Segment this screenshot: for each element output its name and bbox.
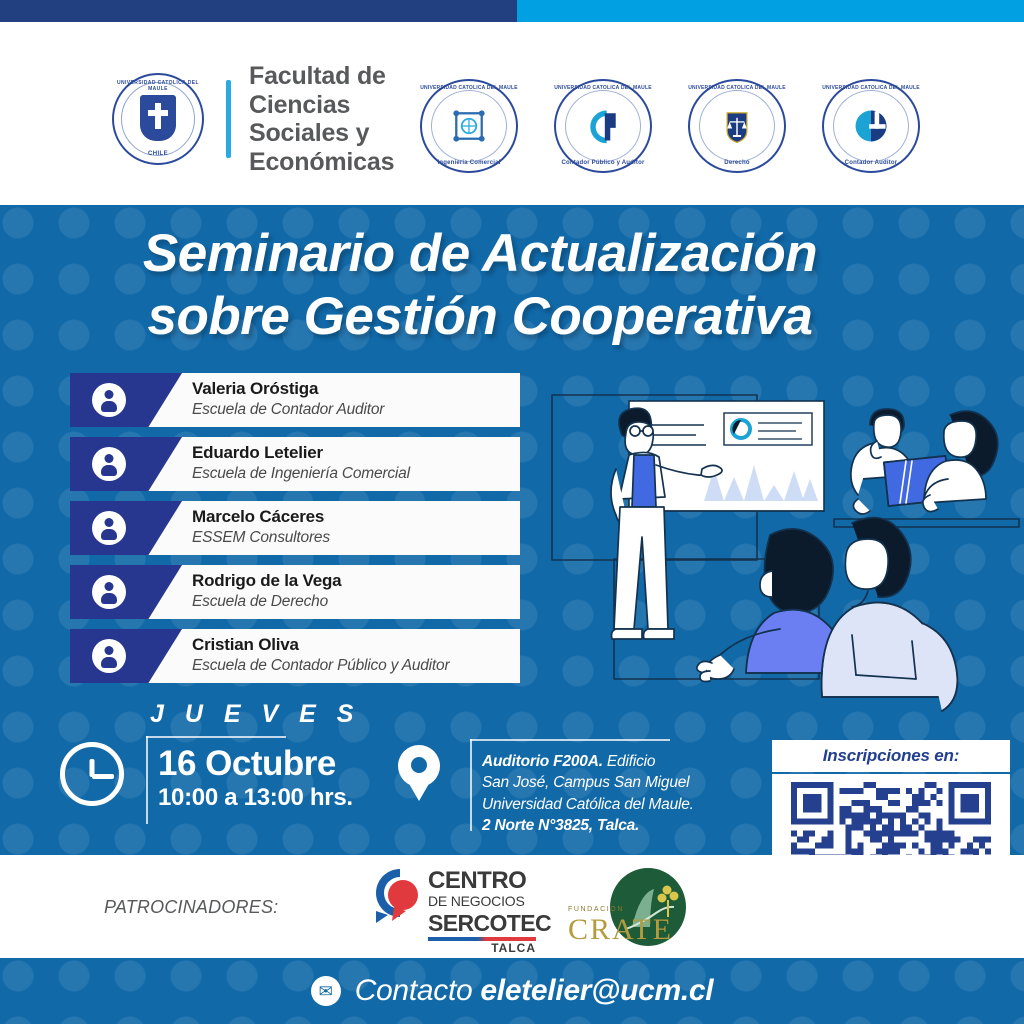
speaker-text: Eduardo LetelierEscuela de Ingeniería Co…	[192, 442, 520, 485]
shield-cross-icon	[140, 95, 176, 141]
pin-head	[398, 745, 440, 787]
speakers-list: Valeria OróstigaEscuela de Contador Audi…	[70, 373, 520, 693]
faculty-title-line: Facultad de	[249, 62, 394, 91]
emblem-top-text: UNIVERSIDAD CATOLICA DEL MAULE	[688, 85, 786, 91]
emblem-derecho: UNIVERSIDAD CATOLICA DEL MAULE Derecho	[688, 79, 786, 173]
location-line-4: 2 Norte N°3825, Talca.	[482, 815, 712, 836]
location-line1-rest: Edificio	[603, 753, 655, 770]
seal-top-text: UNIVERSIDAD CATOLICA DEL MAULE	[112, 80, 204, 92]
top-bar-navy-segment	[0, 0, 517, 22]
top-bar-cyan-segment	[517, 0, 1024, 22]
business-presentation-illustration	[534, 373, 1024, 713]
faculty-lockup: UNIVERSIDAD CATOLICA DEL MAULE CHILE Fac…	[112, 62, 394, 176]
sercotec-line-4: TALCA	[428, 941, 536, 955]
contact-prefix: Contacto	[355, 974, 481, 1007]
emblem-top-text: UNIVERSIDAD CATOLICA DEL MAULE	[822, 85, 920, 91]
faculty-title-line: Económicas	[249, 148, 394, 177]
school-emblems-row: UNIVERSIDAD CATOLICA DEL MAULE Ingenierí…	[420, 79, 920, 173]
speaker-name: Marcelo Cáceres	[192, 506, 520, 528]
faculty-title: Facultad deCienciasSociales yEconómicas	[249, 62, 394, 176]
sercotec-speech-bubbles-icon	[370, 865, 426, 925]
person-icon	[92, 639, 126, 673]
crate-line-1: FUNDACION	[568, 906, 624, 913]
event-date: 16 Octubre	[158, 744, 336, 784]
registration-label: Inscripciones en:	[772, 740, 1010, 772]
poster-root: UNIVERSIDAD CATOLICA DEL MAULE CHILE Fac…	[0, 0, 1024, 1024]
speaker-text: Marcelo CáceresESSEM Consultores	[192, 506, 520, 549]
contact-email[interactable]: eletelier@ucm.cl	[480, 974, 713, 1007]
speaker-role: Escuela de Ingeniería Comercial	[192, 464, 520, 484]
seal-bottom-text: CHILE	[112, 151, 204, 157]
clock-minute-hand	[92, 774, 114, 779]
header-divider-bar	[226, 80, 231, 158]
sercotec-line-1: CENTRO	[428, 869, 551, 893]
crate-line-2: CRATE	[568, 913, 673, 946]
person-icon	[92, 383, 126, 417]
cp-monogram-icon	[581, 104, 625, 148]
envelope-icon: ✉	[311, 976, 341, 1006]
faculty-title-line: Sociales y	[249, 119, 394, 148]
person-icon	[92, 447, 126, 481]
ucm-main-seal-icon: UNIVERSIDAD CATOLICA DEL MAULE CHILE	[112, 73, 204, 165]
header-logos-band: UNIVERSIDAD CATOLICA DEL MAULE CHILE Fac…	[0, 22, 1024, 205]
emblem-bottom-text: Derecho	[688, 160, 786, 166]
speaker-name: Valeria Oróstiga	[192, 378, 520, 400]
speaker-name: Rodrigo de la Vega	[192, 570, 520, 592]
ca-monogram-icon	[849, 104, 893, 148]
contact-lockup[interactable]: ✉ Contacto eletelier@ucm.cl	[311, 974, 714, 1008]
datetime-top-rule	[146, 736, 286, 738]
top-color-bar	[0, 0, 1024, 22]
location-left-rule	[470, 739, 472, 831]
sercotec-line-2: DE NEGOCIOS	[428, 893, 551, 911]
emblem-ingenieria-comercial: UNIVERSIDAD CATOLICA DEL MAULE Ingenierí…	[420, 79, 518, 173]
map-pin-icon	[398, 745, 440, 801]
location-top-rule	[470, 739, 670, 741]
speaker-row: Cristian OlivaEscuela de Contador Públic…	[70, 629, 520, 683]
sercotec-wordmark: CENTRO DE NEGOCIOS SERCOTEC TALCA	[428, 869, 551, 955]
sercotec-line-3: SERCOTEC	[428, 911, 551, 935]
emblem-top-text: UNIVERSIDAD CATOLICA DEL MAULE	[554, 85, 652, 91]
speaker-role: Escuela de Derecho	[192, 592, 520, 612]
emblem-top-text: UNIVERSIDAD CATOLICA DEL MAULE	[420, 85, 518, 91]
location-line-1: Auditorio F200A. Edificio	[482, 751, 712, 772]
person-icon	[92, 511, 126, 545]
location-address: Auditorio F200A. Edificio San José, Camp…	[482, 751, 712, 837]
person-icon	[92, 575, 126, 609]
speaker-text: Rodrigo de la VegaEscuela de Derecho	[192, 570, 520, 613]
emblem-bottom-text: Ingeniería Comercial	[420, 160, 518, 166]
speaker-text: Cristian OlivaEscuela de Contador Públic…	[192, 634, 520, 677]
crate-oval-logo-icon: FUNDACION CRATE	[566, 867, 692, 949]
speaker-name: Cristian Oliva	[192, 634, 520, 656]
scales-shield-icon	[715, 104, 759, 148]
page-title: Seminario de Actualización sobre Gestión…	[0, 223, 960, 348]
location-venue: Auditorio F200A.	[482, 753, 603, 770]
sponsors-label: PATROCINADORES:	[104, 897, 278, 918]
datetime-left-rule	[146, 736, 148, 824]
location-line-2: San José, Campus San Miguel	[482, 772, 712, 793]
emblem-bottom-text: Contador Auditor	[822, 160, 920, 166]
speaker-role: ESSEM Consultores	[192, 528, 520, 548]
sponsor-logo-crate: FUNDACION CRATE	[566, 867, 692, 949]
network-globe-icon	[447, 104, 491, 148]
location-street: 2 Norte N°3825, Talca.	[482, 817, 639, 834]
speaker-text: Valeria OróstigaEscuela de Contador Audi…	[192, 378, 520, 421]
speaker-name: Eduardo Letelier	[192, 442, 520, 464]
sponsor-logo-sercotec: CENTRO DE NEGOCIOS SERCOTEC TALCA	[370, 865, 540, 951]
speaker-row: Marcelo CáceresESSEM Consultores	[70, 501, 520, 555]
speaker-row: Valeria OróstigaEscuela de Contador Audi…	[70, 373, 520, 427]
speaker-role: Escuela de Contador Público y Auditor	[192, 656, 520, 676]
speaker-row: Rodrigo de la VegaEscuela de Derecho	[70, 565, 520, 619]
page-title-line2: sobre Gestión Cooperativa	[0, 286, 960, 349]
page-title-line1: Seminario de Actualización	[0, 223, 960, 286]
contact-footer-bar: ✉ Contacto eletelier@ucm.cl	[0, 958, 1024, 1024]
location-line-3: Universidad Católica del Maule.	[482, 794, 712, 815]
emblem-bottom-text: Contador Público y Auditor	[554, 160, 652, 166]
faculty-title-line: Ciencias	[249, 91, 394, 120]
contact-text: Contacto eletelier@ucm.cl	[355, 974, 714, 1008]
event-weekday: J U E V E S	[150, 700, 360, 729]
clock-icon	[60, 742, 124, 806]
speaker-row: Eduardo LetelierEscuela de Ingeniería Co…	[70, 437, 520, 491]
event-time: 10:00 a 13:00 hrs.	[158, 784, 353, 812]
sponsors-band: PATROCINADORES: CENTRO DE NEGOCIOS SERCO…	[0, 855, 1024, 958]
speaker-role: Escuela de Contador Auditor	[192, 400, 520, 420]
emblem-contador-auditor: UNIVERSIDAD CATOLICA DEL MAULE Contador …	[822, 79, 920, 173]
emblem-contador-publico-y-auditor: UNIVERSIDAD CATOLICA DEL MAULE Contador …	[554, 79, 652, 173]
